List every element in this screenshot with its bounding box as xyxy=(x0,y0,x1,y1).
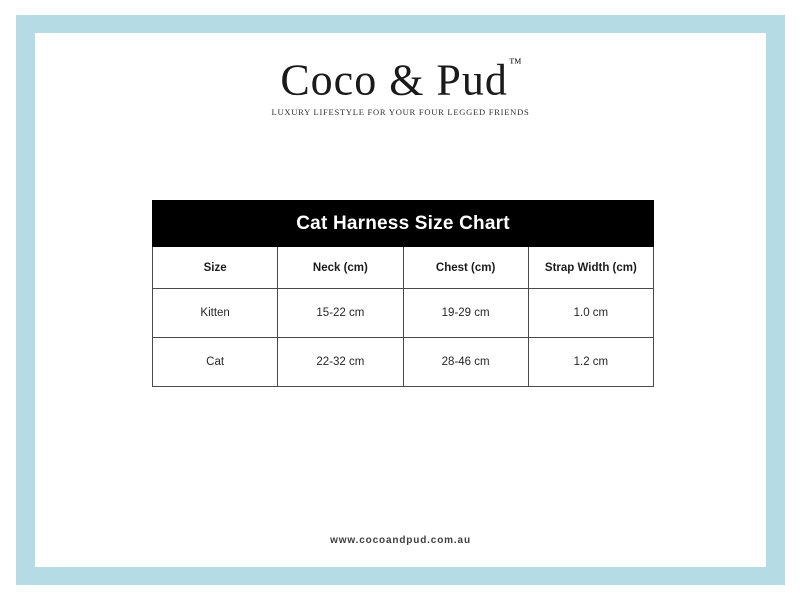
trademark-icon: ™ xyxy=(509,55,522,70)
website-url[interactable]: www.cocoandpud.com.au xyxy=(330,535,471,546)
brand-name-text: Coco & Pud xyxy=(280,56,508,105)
cell-chest: 19-29 cm xyxy=(403,289,528,338)
brand-name: Coco & Pud™ xyxy=(280,51,520,105)
column-header-strap-width: Strap Width (cm) xyxy=(528,247,653,289)
table-row: Cat 22-32 cm 28-46 cm 1.2 cm xyxy=(153,338,654,387)
column-header-size: Size xyxy=(153,247,278,289)
cell-size: Kitten xyxy=(153,289,278,338)
table-header-row: Size Neck (cm) Chest (cm) Strap Width (c… xyxy=(153,247,654,289)
column-header-neck: Neck (cm) xyxy=(278,247,403,289)
content-canvas: Coco & Pud™ LUXURY LIFESTYLE FOR YOUR FO… xyxy=(35,33,766,567)
size-chart-page: Coco & Pud™ LUXURY LIFESTYLE FOR YOUR FO… xyxy=(0,0,800,600)
table-row: Kitten 15-22 cm 19-29 cm 1.0 cm xyxy=(153,289,654,338)
table-title-row: Cat Harness Size Chart xyxy=(153,201,654,247)
cell-neck: 15-22 cm xyxy=(278,289,403,338)
cell-chest: 28-46 cm xyxy=(403,338,528,387)
cell-size: Cat xyxy=(153,338,278,387)
cell-neck: 22-32 cm xyxy=(278,338,403,387)
column-header-chest: Chest (cm) xyxy=(403,247,528,289)
brand-tagline: LUXURY LIFESTYLE FOR YOUR FOUR LEGGED FR… xyxy=(35,106,766,118)
size-chart-title: Cat Harness Size Chart xyxy=(153,201,654,247)
footer: www.cocoandpud.com.au xyxy=(35,530,766,548)
brand-logo: Coco & Pud™ LUXURY LIFESTYLE FOR YOUR FO… xyxy=(35,51,766,118)
cell-strap-width: 1.2 cm xyxy=(528,338,653,387)
cell-strap-width: 1.0 cm xyxy=(528,289,653,338)
size-chart-container: Cat Harness Size Chart Size Neck (cm) Ch… xyxy=(152,200,654,387)
size-chart-table: Cat Harness Size Chart Size Neck (cm) Ch… xyxy=(152,200,654,387)
